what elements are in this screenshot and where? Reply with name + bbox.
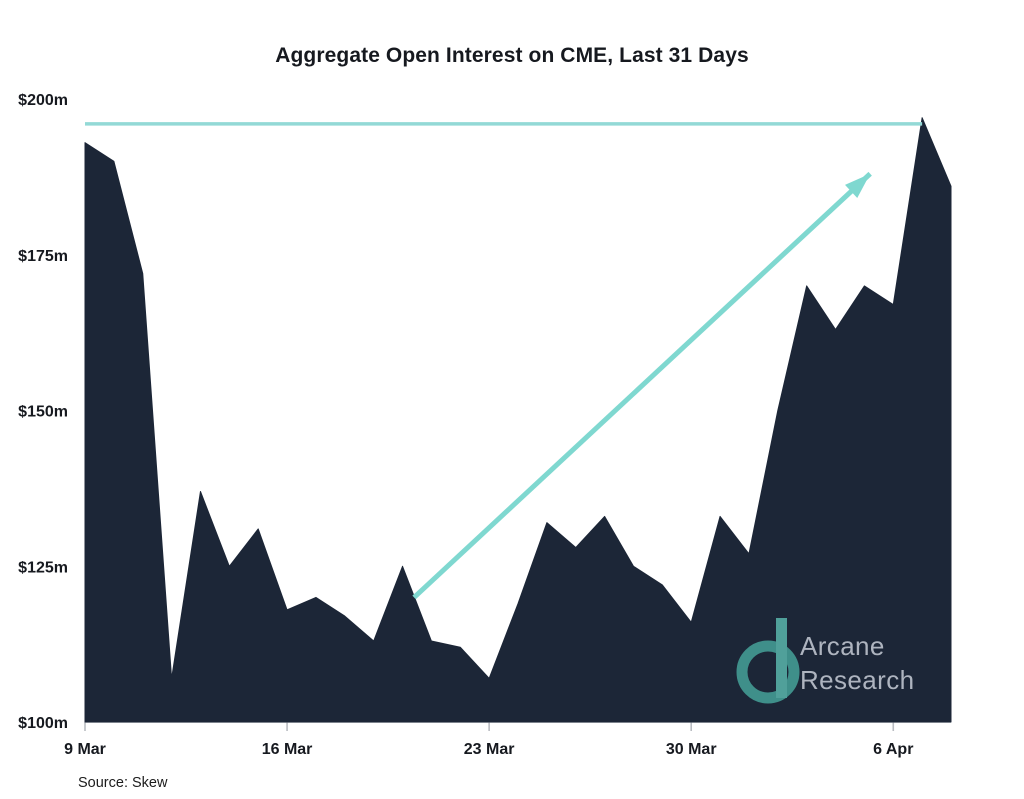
watermark-line-2: Research [800, 665, 914, 695]
x-tick-label: 16 Mar [262, 741, 313, 758]
x-axis: 9 Mar16 Mar23 Mar30 Mar6 Apr [64, 722, 951, 758]
chart-figure: Aggregate Open Interest on CME, Last 31 … [0, 0, 1024, 799]
x-tick-label: 23 Mar [464, 741, 515, 758]
y-tick-label: $175m [18, 248, 68, 265]
x-tick-label: 30 Mar [666, 741, 717, 758]
y-tick-label: $100m [18, 715, 68, 732]
y-tick-label: $200m [18, 92, 68, 109]
y-axis: $100m$125m$150m$175m$200m [18, 92, 68, 732]
source-note: Source: Skew [78, 775, 167, 791]
x-tick-label: 6 Apr [873, 741, 913, 758]
watermark-line-1: Arcane [800, 631, 885, 661]
y-tick-label: $125m [18, 559, 68, 576]
area-chart-svg: $100m$125m$150m$175m$200m 9 Mar16 Mar23 … [0, 0, 1024, 799]
y-tick-label: $150m [18, 404, 68, 421]
x-tick-label: 9 Mar [64, 741, 106, 758]
